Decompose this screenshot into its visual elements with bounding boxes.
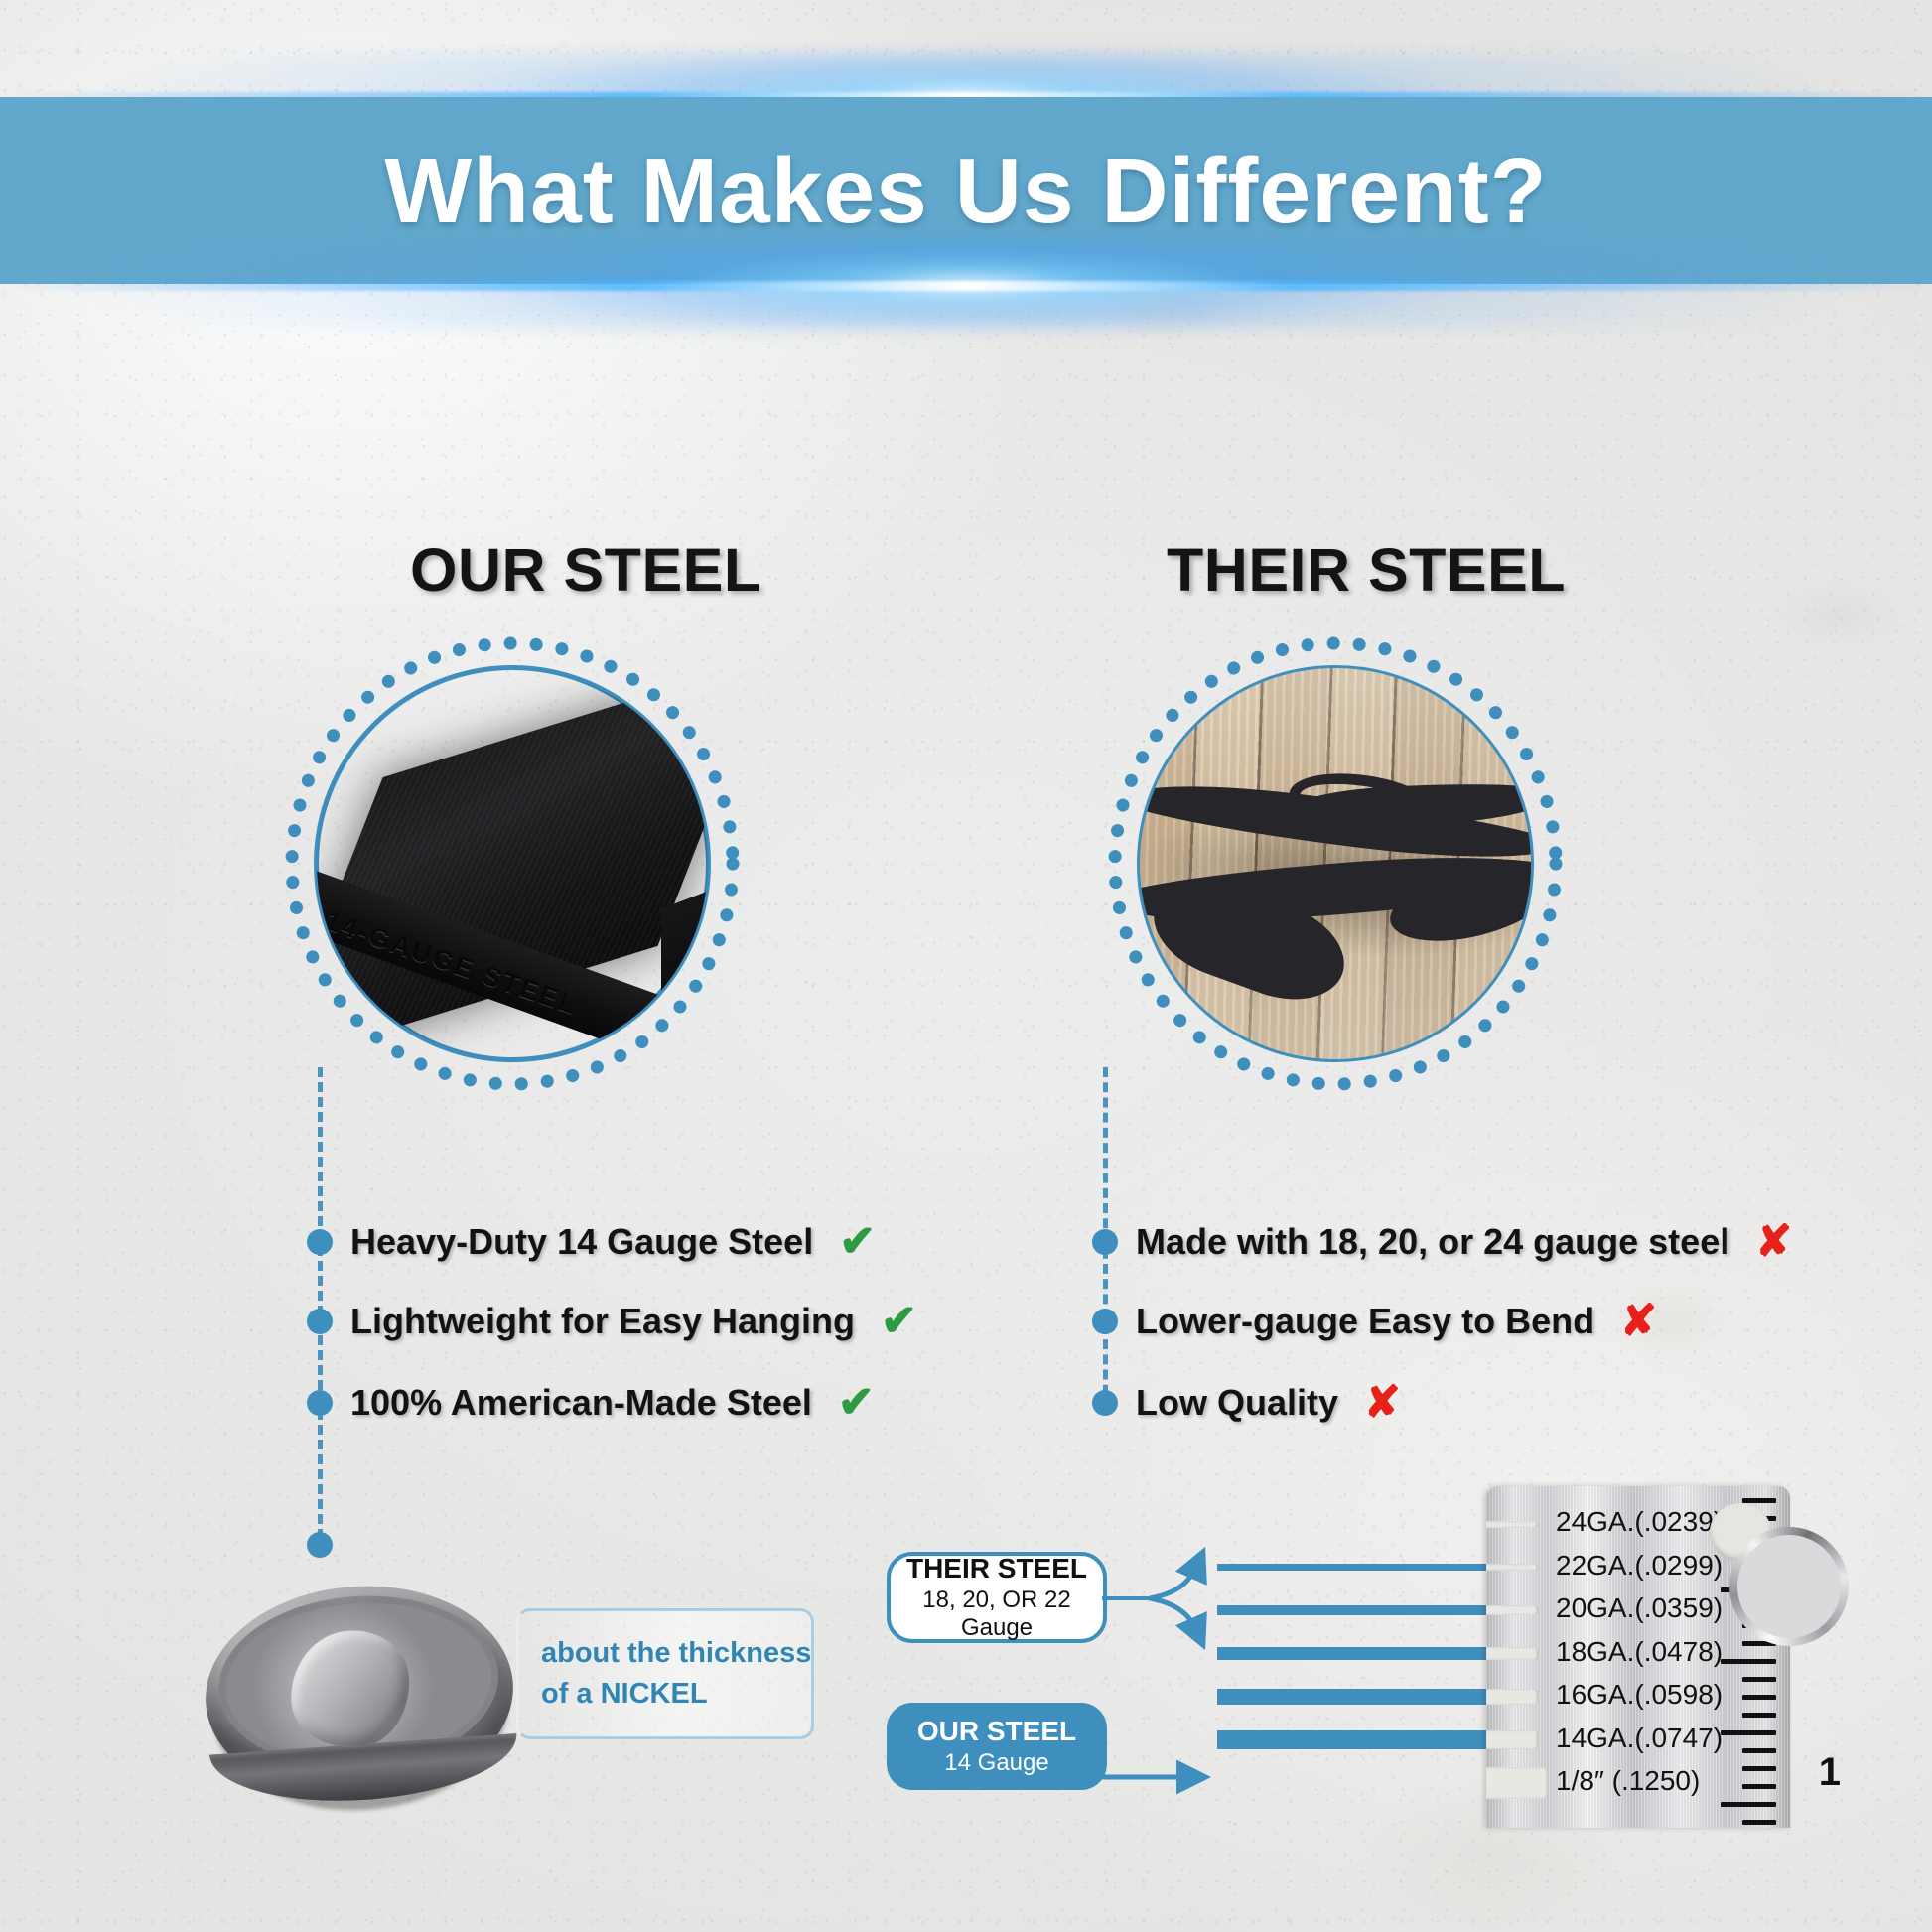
bullet-dot — [1092, 1390, 1118, 1416]
pill-title: THEIR STEEL — [906, 1553, 1087, 1585]
ruler-notch — [1486, 1521, 1538, 1528]
check-icon: ✔ — [881, 1300, 917, 1343]
ruler-tick — [1742, 1713, 1776, 1718]
check-icon: ✔ — [838, 1381, 875, 1425]
bullet-label: 100% American-Made Steel — [350, 1382, 812, 1424]
ruler-tick — [1742, 1498, 1776, 1503]
ruler-keyring-icon — [1729, 1527, 1849, 1646]
bullet-label: Made with 18, 20, or 24 gauge steel — [1136, 1221, 1729, 1263]
ruler-notch — [1486, 1767, 1548, 1799]
pill-title: OUR STEEL — [917, 1716, 1076, 1747]
bullet-label: Lightweight for Easy Hanging — [350, 1301, 855, 1342]
pill-subtitle: 18, 20, OR 22 Gauge — [891, 1587, 1103, 1642]
pill-arrows — [1102, 1534, 1221, 1822]
ruler-gauge-label: 16GA.(.0598) — [1556, 1679, 1723, 1711]
bullet-dot — [1092, 1309, 1118, 1334]
ruler-inch-label: 1 — [1819, 1750, 1841, 1795]
nickel-thickness-callout: about the thickness of a NICKEL — [516, 1608, 814, 1739]
our-steel-gauge-pill: OUR STEEL 14 Gauge — [887, 1703, 1107, 1790]
page-title: What Makes Us Different? — [384, 138, 1547, 244]
gauge-bar-18ga — [1217, 1647, 1490, 1659]
ruler-gauge-label: 22GA.(.0299) — [1556, 1550, 1723, 1582]
bullet-dot — [307, 1229, 333, 1255]
bottom-glow-line — [0, 281, 1932, 291]
bullet-label: Lower-gauge Easy to Bend — [1136, 1301, 1594, 1342]
bullet-label: Low Quality — [1136, 1382, 1338, 1424]
list-item: Lower-gauge Easy to Bend ✘ — [1092, 1300, 1657, 1343]
ruler-tick — [1742, 1695, 1776, 1700]
list-item: Made with 18, 20, or 24 gauge steel ✘ — [1092, 1220, 1792, 1264]
gauge-bar-14ga — [1217, 1730, 1490, 1749]
ruler-tick — [1742, 1766, 1776, 1771]
ruler-tick — [1721, 1802, 1776, 1807]
our-steel-heading: OUR STEEL — [410, 535, 761, 605]
ruler-notch — [1486, 1689, 1538, 1704]
gauge-bar-20ga — [1217, 1605, 1490, 1614]
ruler-tick — [1742, 1820, 1776, 1825]
nickel-caption-line-2: of a NICKEL — [541, 1678, 793, 1711]
gauge-bar-16ga — [1217, 1689, 1490, 1704]
ruler-tick — [1742, 1677, 1776, 1682]
cross-icon: ✘ — [1364, 1381, 1401, 1425]
ruler-notch — [1486, 1730, 1538, 1749]
ruler-gauge-label: 14GA.(.0747) — [1556, 1723, 1723, 1754]
bullet-dot — [1092, 1229, 1118, 1255]
ruler-tick — [1742, 1748, 1776, 1753]
ruler-gauge-label: 1/8″ (.1250) — [1556, 1765, 1700, 1797]
header-banner-area: What Makes Us Different? — [0, 0, 1932, 298]
our-steel-rail-end-dot — [307, 1532, 333, 1558]
nickel-caption-line-1: about the thickness — [541, 1637, 793, 1670]
our-steel-photo: 14-GAUGE STEEL — [317, 668, 708, 1059]
ruler-gauge-label: 24GA.(.0239) — [1556, 1506, 1723, 1538]
steel-slab-illustration: 14-GAUGE STEEL — [317, 668, 708, 1059]
list-item: Low Quality ✘ — [1092, 1381, 1401, 1425]
ruler-gauge-label: 18GA.(.0478) — [1556, 1636, 1723, 1668]
bullet-dot — [307, 1390, 333, 1416]
weathered-wood-background — [1140, 668, 1531, 1059]
check-icon: ✔ — [839, 1220, 876, 1264]
ruler-notch — [1486, 1647, 1538, 1659]
ruler-gauge-label: 20GA.(.0359) — [1556, 1592, 1723, 1624]
gauge-bar-22ga — [1217, 1564, 1490, 1572]
ruler-notch — [1486, 1564, 1538, 1572]
cross-icon: ✘ — [1620, 1300, 1657, 1343]
bullet-dot — [307, 1309, 333, 1334]
ruler-tick — [1721, 1730, 1776, 1735]
ruler-notch — [1486, 1605, 1538, 1614]
their-steel-heading: THEIR STEEL — [1167, 535, 1566, 605]
pill-subtitle: 14 Gauge — [944, 1749, 1048, 1777]
cross-icon: ✘ — [1755, 1220, 1792, 1264]
their-steel-photo — [1140, 668, 1531, 1059]
their-steel-gauge-pill: THEIR STEEL 18, 20, OR 22 Gauge — [887, 1552, 1107, 1643]
list-item: Heavy-Duty 14 Gauge Steel ✔ — [307, 1220, 876, 1264]
list-item: Lightweight for Easy Hanging ✔ — [307, 1300, 917, 1343]
list-item: 100% American-Made Steel ✔ — [307, 1381, 875, 1425]
our-steel-badge: 14-GAUGE STEEL — [279, 630, 746, 1097]
bullet-label: Heavy-Duty 14 Gauge Steel — [350, 1221, 813, 1263]
their-steel-badge — [1102, 630, 1569, 1097]
ruler-tick — [1721, 1659, 1776, 1664]
ruler-tick — [1742, 1784, 1776, 1789]
